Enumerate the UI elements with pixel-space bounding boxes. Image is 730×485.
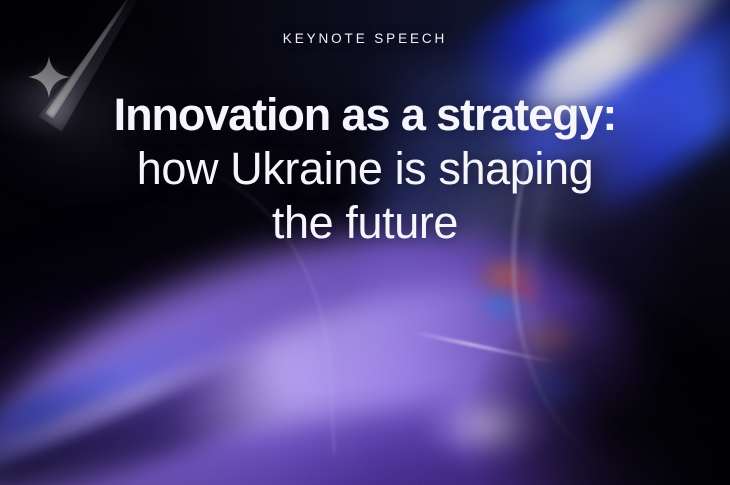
- eyebrow-label: KEYNOTE SPEECH: [0, 31, 730, 46]
- keynote-slide: KEYNOTE SPEECH Innovation as a strategy:…: [0, 0, 730, 485]
- headline-line-1: Innovation as a strategy:: [0, 88, 730, 142]
- slide-content: KEYNOTE SPEECH Innovation as a strategy:…: [0, 0, 730, 485]
- headline-line-3: the future: [0, 196, 730, 250]
- headline-line-2: how Ukraine is shaping: [0, 142, 730, 196]
- page-title: Innovation as a strategy: how Ukraine is…: [0, 88, 730, 250]
